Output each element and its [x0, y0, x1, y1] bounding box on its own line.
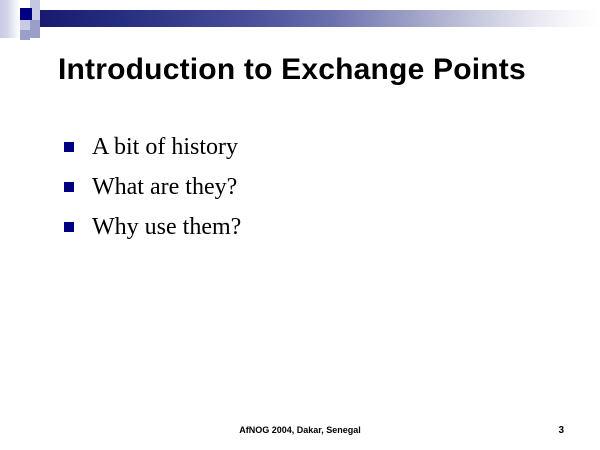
- list-item-label: What are they?: [92, 174, 237, 200]
- square-bullet-icon: [64, 182, 74, 192]
- list-item-label: A bit of history: [92, 134, 238, 160]
- decorative-square-navy: [20, 8, 32, 20]
- decorative-header: [0, 0, 600, 48]
- square-bullet-icon: [64, 142, 74, 152]
- decorative-square-medium-3: [30, 27, 40, 38]
- list-item: A bit of history: [60, 132, 520, 162]
- decorative-gradient-bar: [40, 10, 600, 27]
- slide: Introduction to Exchange Points A bit of…: [0, 0, 600, 450]
- list-item: What are they?: [60, 172, 520, 202]
- bullet-list: A bit of history What are they? Why use …: [60, 132, 520, 252]
- page-number: 3: [558, 425, 564, 436]
- list-item: Why use them?: [60, 212, 520, 242]
- decorative-square-pale-3: [20, 20, 30, 30]
- list-item-label: Why use them?: [92, 214, 241, 240]
- square-bullet-icon: [64, 222, 74, 232]
- decorative-left-strip: [0, 0, 20, 38]
- slide-footer: AfNOG 2004, Dakar, Senegal: [0, 425, 600, 435]
- decorative-square-medium-2: [20, 30, 30, 40]
- slide-title: Introduction to Exchange Points: [58, 52, 528, 88]
